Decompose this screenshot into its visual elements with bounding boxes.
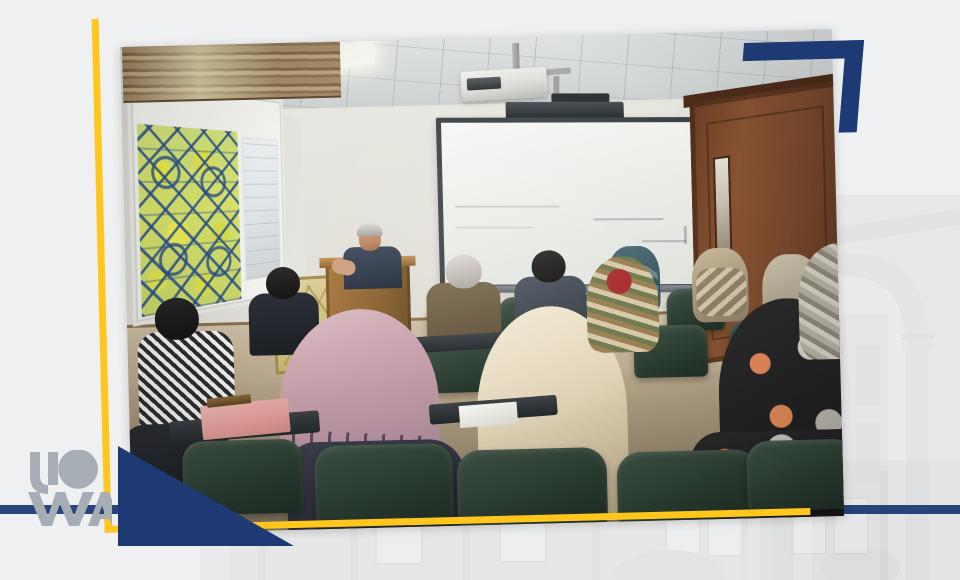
logo-letter-w: [28, 492, 94, 526]
page-canvas: [0, 0, 960, 580]
chair: [182, 439, 304, 516]
blinds-highlight: [122, 36, 341, 101]
logo-letter-o-ring: [60, 451, 96, 487]
chair: [314, 443, 454, 528]
whiteboard-mark: [593, 218, 663, 220]
papers: [459, 402, 519, 428]
stained-glass-panel: [137, 124, 241, 318]
whiteboard-marks: [453, 134, 715, 273]
logo-letter-u: [30, 452, 58, 494]
window-blinds: [122, 36, 341, 103]
ceiling-projector: [460, 67, 548, 102]
window-pane-clear: [241, 137, 281, 281]
window: [127, 77, 288, 327]
presenter-hair: [357, 223, 383, 236]
stained-glass-medallions: [137, 124, 241, 318]
chair: [456, 447, 608, 529]
uowa-logo: [26, 450, 112, 528]
photo-scene: [120, 29, 844, 534]
whiteboard-mark: [684, 226, 687, 244]
chair: [616, 449, 760, 525]
whiteboard-mark: [642, 240, 686, 242]
event-photo: [120, 29, 844, 534]
ornate-hijab: [585, 256, 659, 354]
chair: [746, 439, 844, 512]
